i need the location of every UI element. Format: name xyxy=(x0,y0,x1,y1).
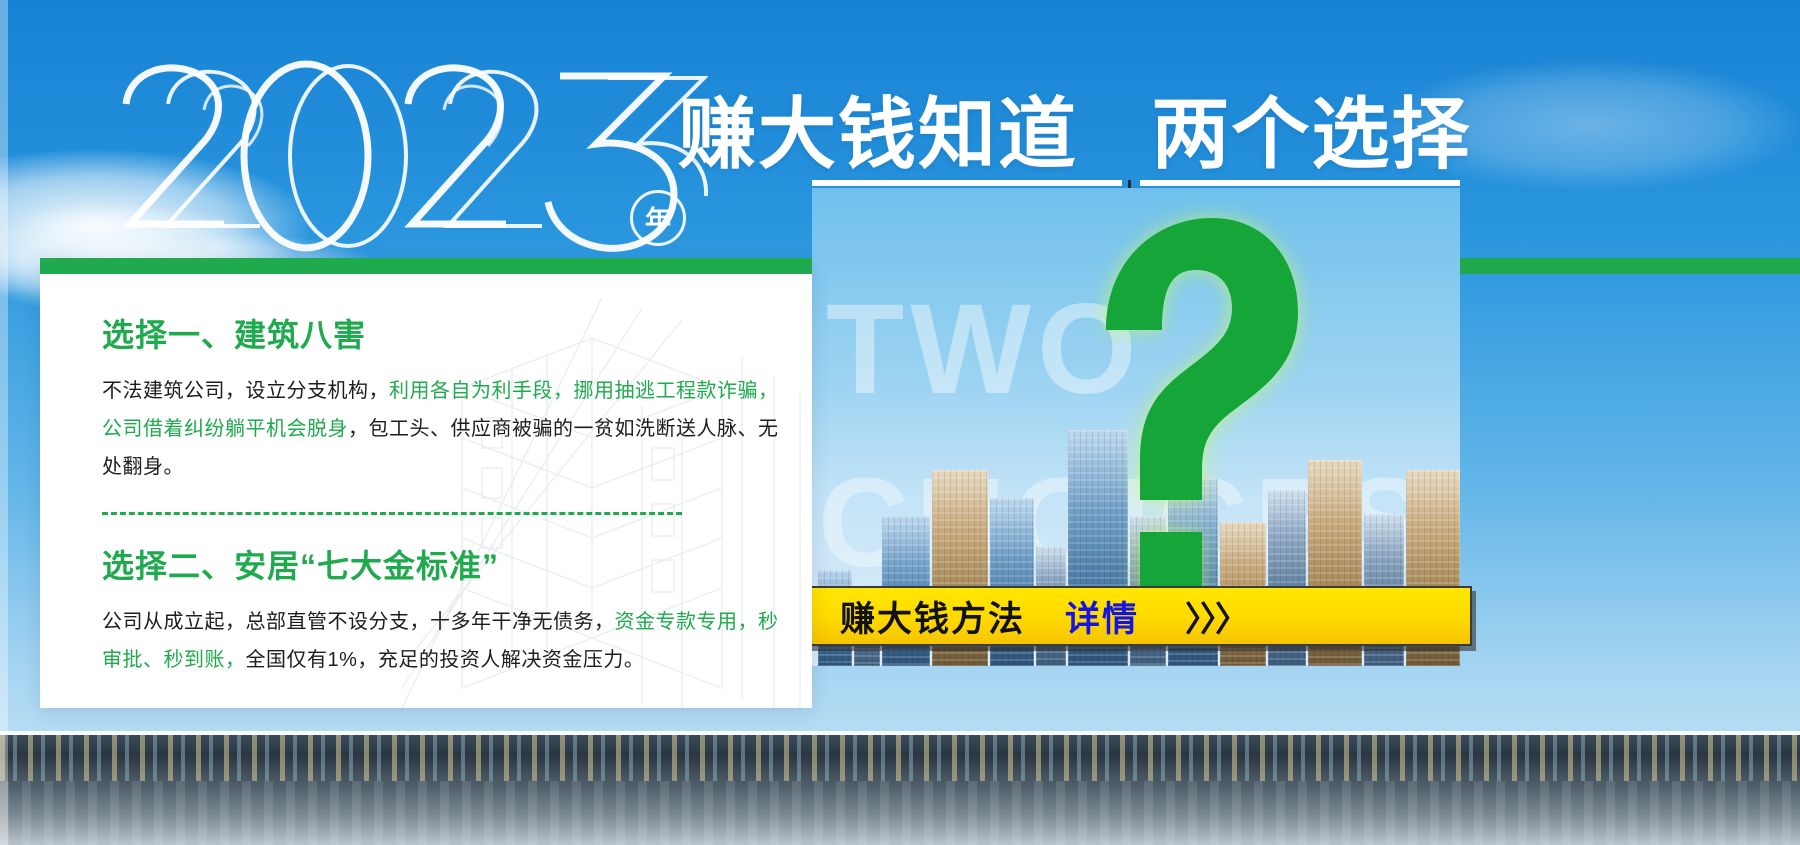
section-two-text: 公司从成立起，总部直管不设分支，十多年干净无债务，资金专款专用，秒审批、秒到账，… xyxy=(102,603,782,679)
promotional-poster: 年 赚大钱知道 两个选择 TWO CHOICES xyxy=(0,0,1800,845)
section-two-run-2: 全国仅有1%，充足的投资人解决资金压力。 xyxy=(246,649,645,671)
headline-rule-right xyxy=(1140,180,1460,186)
year-2023-graphic xyxy=(108,52,708,267)
year-unit-badge: 年 xyxy=(630,190,686,246)
headline-rule-left xyxy=(812,180,1122,186)
watermark-two: TWO xyxy=(826,286,1143,414)
section-one-text: 不法建筑公司，设立分支机构，利用各自为利手段，挪用抽逃工程款诈骗，公司借着纠纷躺… xyxy=(102,372,782,486)
chevron-right-icon: 〉〉〉 xyxy=(1185,592,1247,641)
section-two-run-0: 公司从成立起，总部直管不设分支，十多年干净无债务， xyxy=(102,611,615,633)
section-two-title: 选择二、安居“七大金标准” xyxy=(102,541,786,587)
content-card: 选择一、建筑八害 不法建筑公司，设立分支机构，利用各自为利手段，挪用抽逃工程款诈… xyxy=(40,258,812,708)
cta-detail-link[interactable]: 详情 xyxy=(1065,591,1139,642)
green-accent-bar-right xyxy=(1460,258,1800,274)
cta-banner[interactable]: 赚大钱方法 详情 〉〉〉 xyxy=(804,586,1472,646)
waterfront-strip xyxy=(0,735,1800,845)
headline-part-1: 赚大钱知道 xyxy=(678,90,1078,178)
page-title: 赚大钱知道 两个选择 xyxy=(678,72,1471,184)
cta-main-label: 赚大钱方法 xyxy=(840,591,1025,642)
section-divider xyxy=(102,512,682,515)
poster-left-frame xyxy=(0,0,8,845)
headline-part-2: 两个选择 xyxy=(1151,90,1471,178)
section-one-title: 选择一、建筑八害 xyxy=(102,310,786,356)
section-two: 选择二、安居“七大金标准” 公司从成立起，总部直管不设分支，十多年干净无债务，资… xyxy=(102,541,786,679)
card-top-accent-bar xyxy=(40,258,812,274)
section-one-run-0: 不法建筑公司，设立分支机构， xyxy=(102,380,389,402)
card-body: 选择一、建筑八害 不法建筑公司，设立分支机构，利用各自为利手段，挪用抽逃工程款诈… xyxy=(102,310,786,679)
